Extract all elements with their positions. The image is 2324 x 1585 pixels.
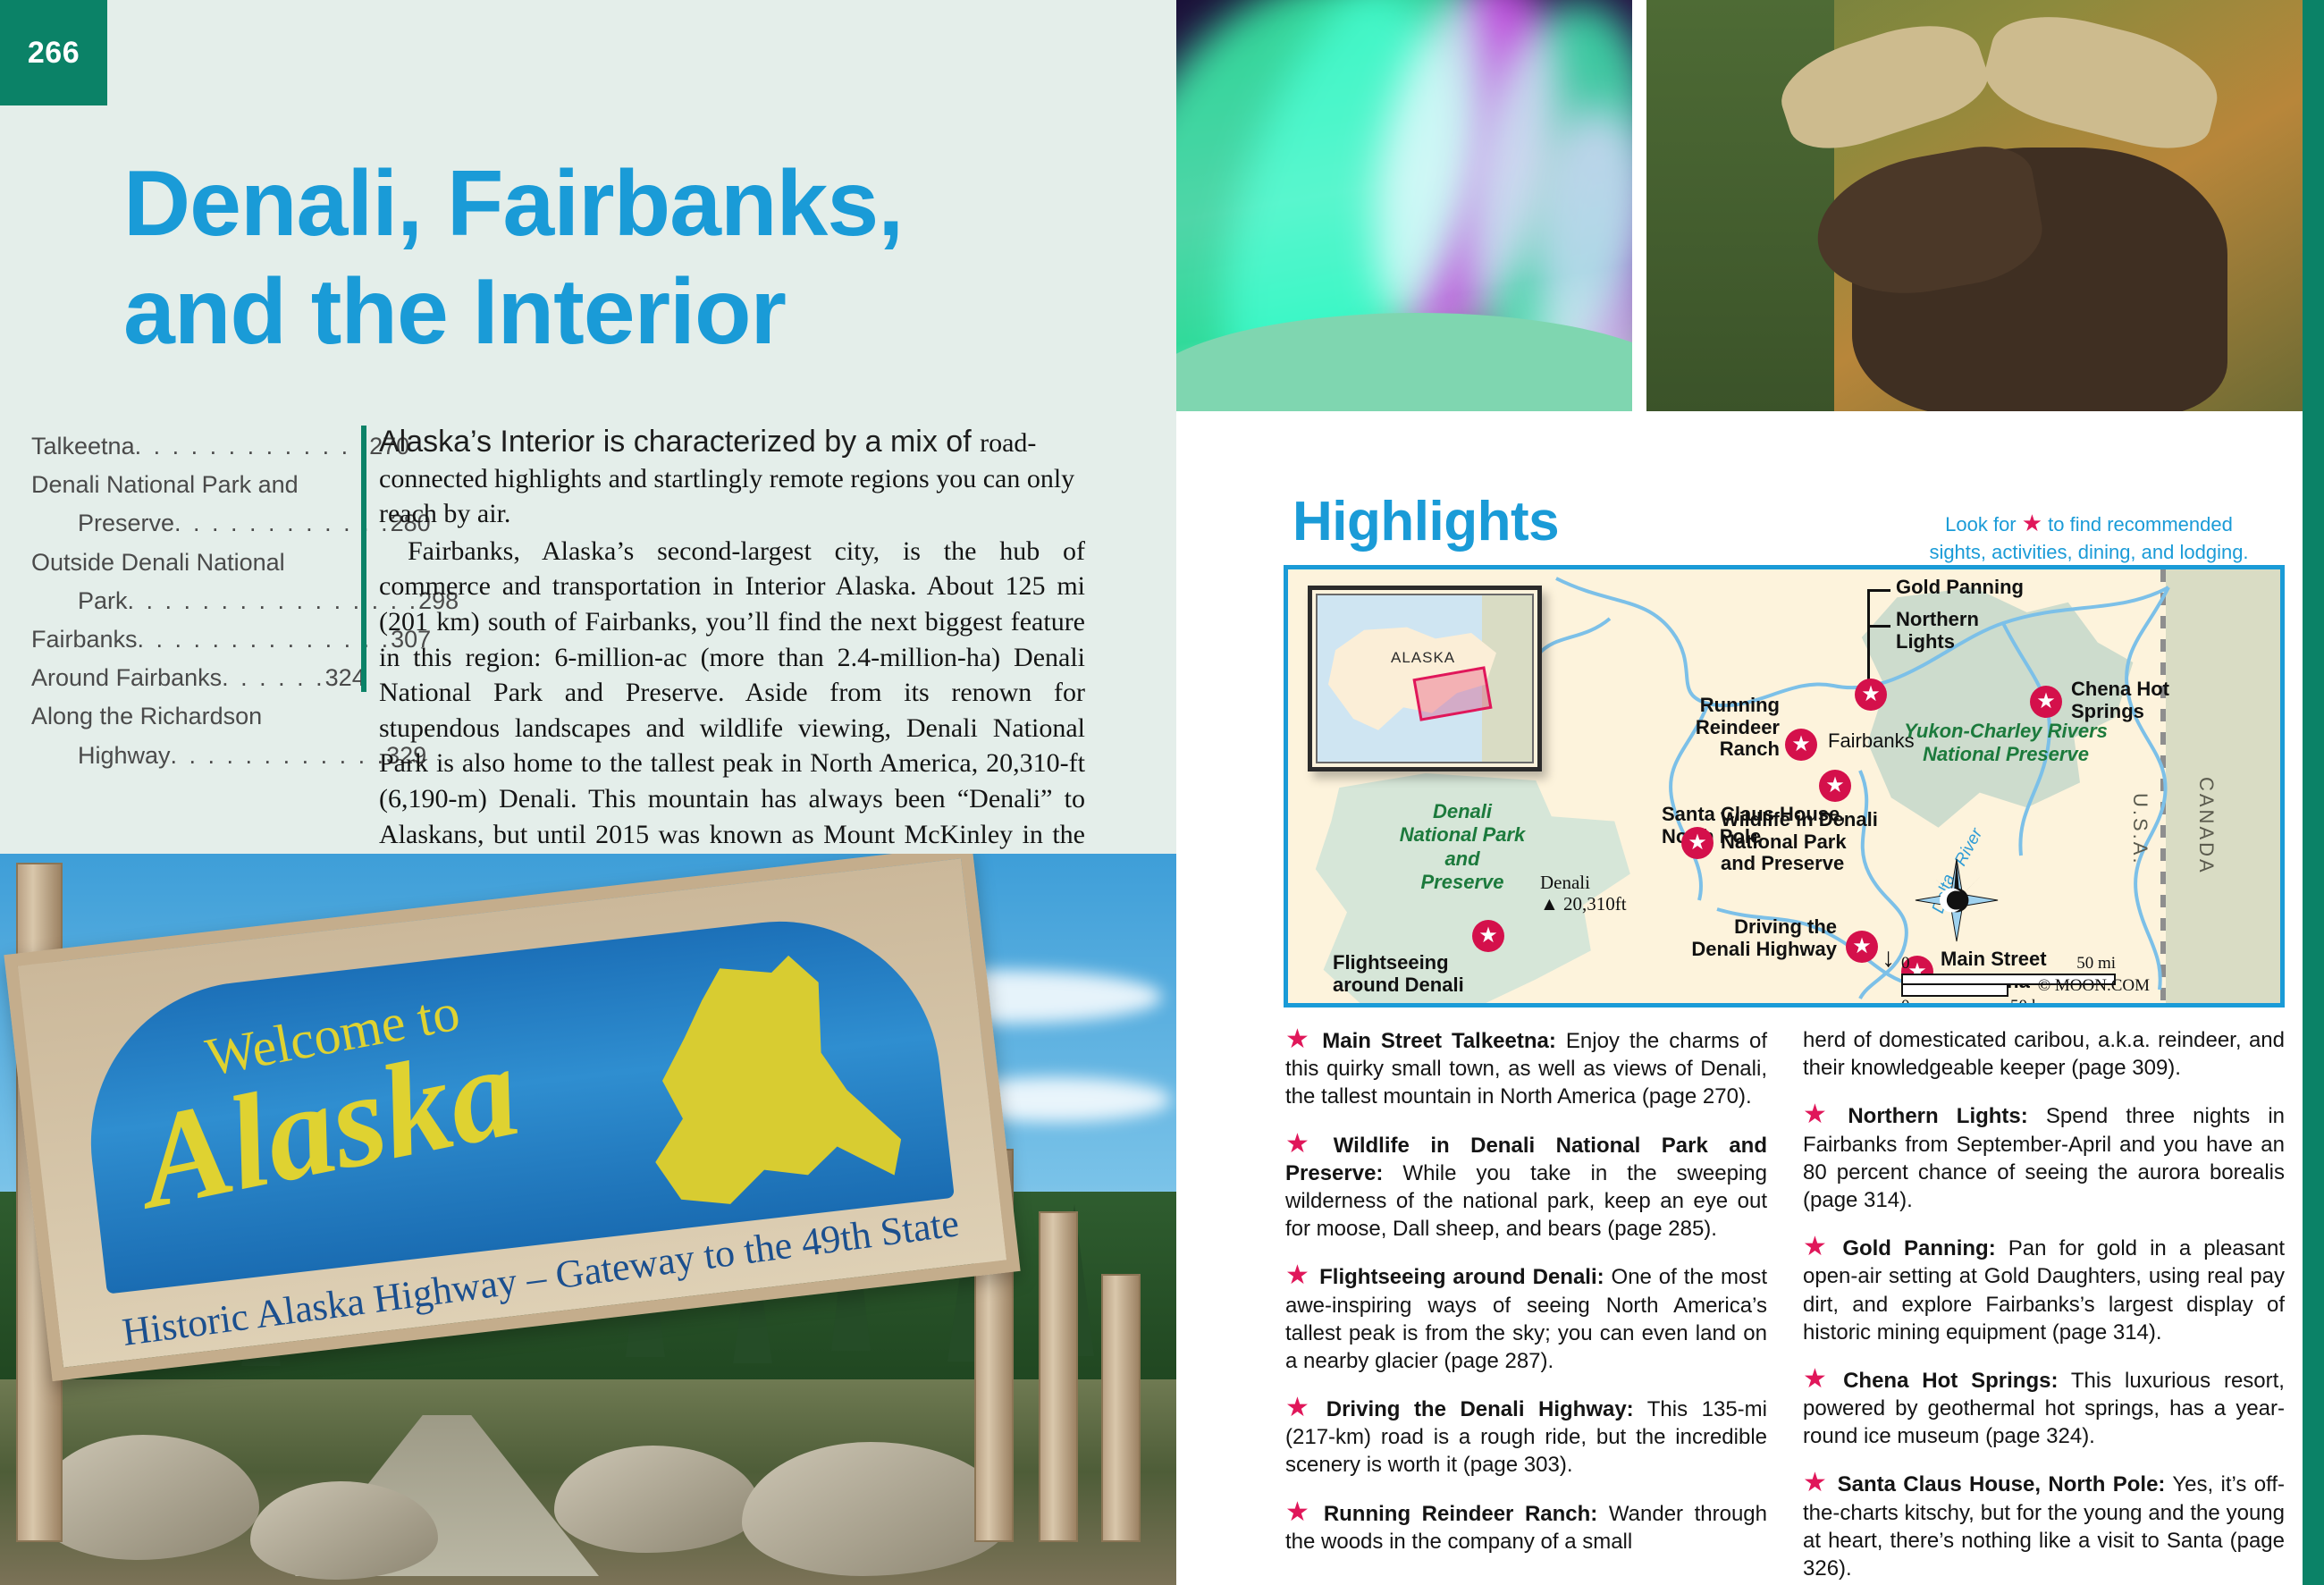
map-label-wildlife-denali: Wildlife in DenaliNational Parkand Prese…	[1721, 809, 1878, 875]
page-edge-bar	[2303, 0, 2324, 1585]
map-label-chena-hot-springs: Chena HotSprings	[2071, 679, 2169, 722]
map-marker-gold-panning-northern-lights[interactable]: ★	[1855, 679, 1887, 711]
toc-item[interactable]: Around Fairbanks. . . . . .324	[31, 659, 353, 697]
highlight-item: ★Wildlife in Denali National Park and Pr…	[1285, 1131, 1767, 1244]
toc-label: Fairbanks	[31, 626, 138, 653]
toc-page: 324	[325, 664, 366, 691]
toc-label: Preserve	[78, 510, 174, 536]
highlight-item: ★Flightseeing around Denali: One of the …	[1285, 1262, 1767, 1375]
bush-shape	[1646, 0, 1834, 411]
lookfor-line2: sights, activities, dining, and lodging.	[1929, 541, 2248, 563]
toc-dots: . . . . . . . . . . . .	[171, 742, 387, 769]
toc-label: Park	[78, 587, 128, 614]
lookfor-after: to find recommended	[2042, 513, 2233, 535]
toc-item[interactable]: Denali National Park and	[31, 466, 353, 504]
photo-aurora	[1176, 0, 1632, 411]
highlight-name: Main Street Talkeetna:	[1322, 1029, 1556, 1053]
highlights-columns: ★Main Street Talkeetna: Enjoy the charms…	[1285, 1026, 2285, 1572]
intro-text: Alaska’s Interior is characterized by a …	[379, 424, 1085, 888]
highlights-title: Highlights	[1293, 490, 1559, 553]
toc-dots: . . . . . . . . . . . .	[174, 510, 391, 536]
map-label-running-reindeer-ranch: RunningReindeerRanch	[1628, 695, 1780, 761]
toc-item[interactable]: Fairbanks. . . . . . . . . . . . . .307	[31, 620, 353, 659]
toc-dots: . . . . . . . . . . . . . .	[138, 626, 392, 653]
map-label-yukon-charley: Yukon-Charley RiversNational Preserve	[1831, 720, 2180, 767]
toc-dots: . . . . . . . . . . . . .	[135, 433, 370, 459]
scale-mi-start: 0	[1901, 954, 1910, 974]
highlight-name: Flightseeing around Denali:	[1319, 1265, 1604, 1289]
page-number: 266	[28, 36, 80, 71]
highlight-name: Running Reindeer Ranch:	[1324, 1502, 1598, 1526]
arrow-down-icon: ↓	[1882, 945, 1895, 972]
highlight-name: Northern Lights:	[1848, 1104, 2027, 1128]
intro-paragraph-2: Fairbanks, Alaska’s second-largest city,…	[379, 534, 1085, 888]
highlight-item: ★Main Street Talkeetna: Enjoy the charms…	[1285, 1026, 1767, 1111]
map-label-canada: CANADA	[2194, 777, 2218, 875]
scale-km-labels: 0 50 km	[1901, 997, 2053, 1007]
highlight-item: ★Gold Panning: Pan for gold in a pleasan…	[1803, 1234, 2285, 1346]
map-credit: © MOON.COM	[2038, 976, 2150, 996]
toc-label: Highway	[78, 742, 171, 769]
star-icon: ★	[1285, 1260, 1310, 1290]
highlight-name: Driving the Denali Highway:	[1326, 1397, 1634, 1421]
scale-km-start: 0	[1901, 997, 1910, 1007]
highlights-column-2: herd of domesticated caribou, a.k.a. rei…	[1803, 1026, 2285, 1572]
highlight-name: Santa Claus House, North Pole:	[1838, 1472, 2166, 1496]
inset-canada-band	[1482, 595, 1532, 762]
highlight-item: ★Running Reindeer Ranch: Wander through …	[1285, 1499, 1767, 1555]
alaska-locator-inset: ALASKA	[1308, 586, 1542, 771]
map-label-driving-denali-highway: Driving theDenali Highway	[1644, 916, 1837, 960]
map-label-denali-peak: Denali▲ 20,310ft	[1540, 872, 1627, 915]
star-icon: ★	[1803, 1100, 1839, 1129]
alaska-map-shape-icon	[623, 944, 918, 1223]
toc-label: Outside Denali National	[31, 549, 285, 576]
toc-label: Around Fairbanks	[31, 664, 222, 691]
toc-label: Along the Richardson	[31, 703, 262, 729]
map-label-gold-panning: Gold Panning	[1896, 577, 2024, 599]
highlights-map[interactable]: ALASKA Gold Panning NorthernLights ★ ★ C…	[1284, 565, 2285, 1007]
table-of-contents: Talkeetna. . . . . . . . . . . . .270 De…	[31, 427, 353, 775]
highlights-column-1: ★Main Street Talkeetna: Enjoy the charms…	[1285, 1026, 1767, 1572]
toc-dots: . . . . . .	[222, 664, 325, 691]
map-marker-running-reindeer-ranch[interactable]: ★	[1785, 729, 1817, 761]
compass-rose-icon	[1914, 857, 2000, 943]
left-page: 266 Denali, Fairbanks, and the Interior …	[0, 0, 1176, 1585]
toc-item[interactable]: Highway. . . . . . . . . . . .329	[31, 737, 353, 775]
star-icon: ★	[1803, 1468, 1829, 1497]
inset-alaska-label: ALASKA	[1391, 649, 1455, 667]
highlight-continuation-text: herd of domesticated caribou, a.k.a. rei…	[1803, 1026, 2285, 1082]
star-icon: ★	[1285, 1497, 1315, 1527]
sign-alaska-text: Alaska	[127, 1013, 530, 1239]
page-number-badge: 266	[0, 0, 107, 105]
highlight-continuation: herd of domesticated caribou, a.k.a. rei…	[1803, 1026, 2285, 1082]
sign-post-right-3	[1101, 1274, 1141, 1542]
map-marker-flightseeing[interactable]: ★	[1472, 920, 1504, 952]
star-icon: ★	[1803, 1364, 1834, 1394]
star-icon: ★	[2022, 510, 2042, 536]
map-marker-santa-claus-house[interactable]: ★	[1819, 770, 1851, 802]
map-marker-driving-denali-highway[interactable]: ★	[1846, 931, 1878, 963]
scale-mi-end: 50 mi	[2076, 954, 2116, 974]
map-label-flightseeing: Flightseeingaround Denali	[1333, 952, 1464, 996]
photo-moose	[1646, 0, 2303, 411]
highlight-name: Gold Panning:	[1842, 1236, 1995, 1260]
toc-item[interactable]: Park. . . . . . . . . . . . . . . .298	[31, 582, 353, 620]
toc-item[interactable]: Outside Denali National	[31, 544, 353, 582]
toc-item[interactable]: Talkeetna. . . . . . . . . . . . .270	[31, 427, 353, 466]
highlight-item: ★Chena Hot Springs: This luxurious resor…	[1803, 1366, 2285, 1451]
chapter-title: Denali, Fairbanks, and the Interior	[123, 150, 1071, 366]
toc-label: Denali National Park and	[31, 471, 299, 498]
highlight-item: ★Santa Claus House, North Pole: Yes, it’…	[1803, 1470, 2285, 1582]
antler-shape-right	[1976, 0, 2227, 160]
highlight-name: Chena Hot Springs:	[1843, 1369, 2058, 1393]
map-marker-chena-hot-springs[interactable]: ★	[2030, 686, 2062, 718]
map-label-northern-lights: NorthernLights	[1896, 609, 1979, 653]
lookfor-before: Look for	[1945, 513, 2022, 535]
book-spread: 266 Denali, Fairbanks, and the Interior …	[0, 0, 2324, 1585]
toc-item[interactable]: Preserve. . . . . . . . . . . .280	[31, 504, 353, 543]
vertical-divider	[361, 426, 366, 692]
scale-bar-km	[1901, 985, 2008, 997]
leader-line-goldpanning	[1867, 589, 1890, 592]
photo-welcome-sign: Welcome to Alaska Historic Alaska Highwa…	[0, 854, 1176, 1585]
right-page: Highlights Look for ★ to find recommende…	[1176, 0, 2324, 1585]
scale-mi-labels: 0 50 mi	[1901, 954, 2116, 974]
scale-km-end: 50 km	[2010, 997, 2053, 1007]
leader-line-vertical	[1867, 589, 1870, 686]
sign-post-right-2	[1039, 1211, 1078, 1542]
toc-item[interactable]: Along the Richardson	[31, 697, 353, 736]
highlight-item: ★Northern Lights: Spend three nights in …	[1803, 1101, 2285, 1214]
star-icon: ★	[1285, 1129, 1325, 1159]
inset-canvas: ALASKA	[1316, 594, 1534, 763]
map-label-usa: U.S.A.	[2128, 793, 2151, 866]
lookfor-legend: Look for ★ to find recommended sights, a…	[1897, 508, 2281, 565]
leader-line-northernlights	[1867, 625, 1890, 628]
intro-lead: Alaska’s Interior is characterized by a …	[379, 425, 980, 459]
star-icon: ★	[1285, 1393, 1318, 1422]
star-icon: ★	[1803, 1232, 1833, 1261]
star-icon: ★	[1285, 1024, 1313, 1054]
toc-dots: . . . . . . . . . . . . . . . .	[128, 587, 419, 614]
map-marker-wildlife-denali[interactable]: ★	[1681, 827, 1714, 859]
highlight-item: ★Driving the Denali Highway: This 135-mi…	[1285, 1395, 1767, 1480]
toc-label: Talkeetna	[31, 433, 135, 459]
